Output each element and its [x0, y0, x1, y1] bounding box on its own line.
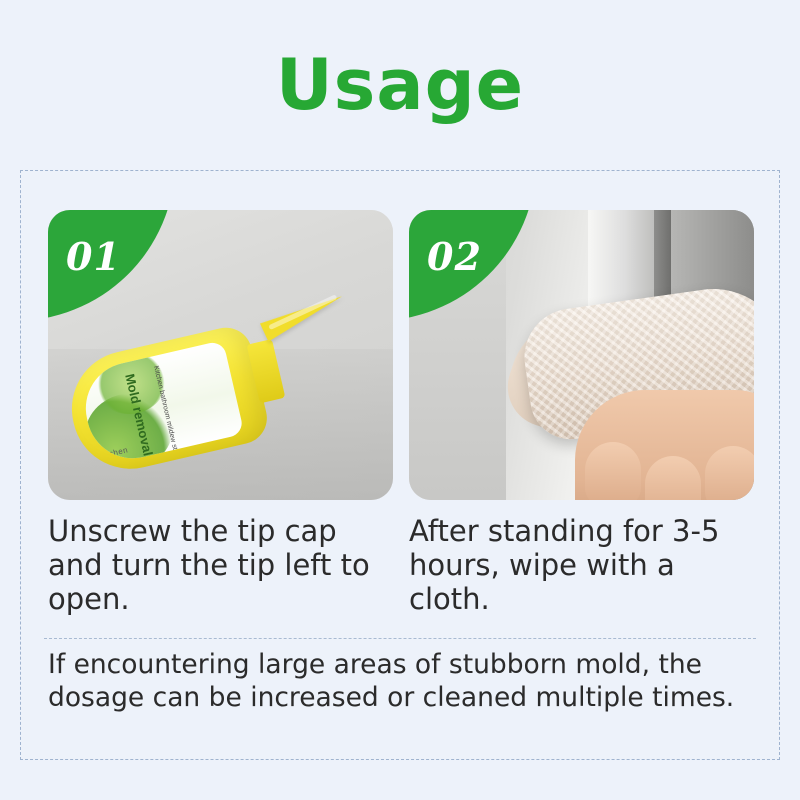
steps-container: Mold removal gel Kitchen bathroom mildew… — [48, 210, 754, 616]
footnote-divider — [44, 638, 756, 639]
page-title: Usage — [0, 44, 800, 126]
step-card-01: Mold removal gel Kitchen bathroom mildew… — [48, 210, 393, 616]
step-02-photo: 02 — [409, 210, 754, 500]
finger-1 — [585, 442, 641, 500]
hand — [575, 390, 754, 500]
usage-infographic: Usage Mold removal gel Kitchen bathroom … — [0, 0, 800, 800]
finger-3 — [705, 446, 754, 500]
step-01-photo: Mold removal gel Kitchen bathroom mildew… — [48, 210, 393, 500]
finger-2 — [645, 456, 701, 500]
step-01-caption: Unscrew the tip cap and turn the tip lef… — [48, 514, 393, 616]
step-card-02: 02 After standing for 3-5 hours, wipe wi… — [409, 210, 754, 616]
wall-left — [409, 210, 506, 500]
footnote-text: If encountering large areas of stubborn … — [48, 648, 764, 714]
step-02-caption: After standing for 3-5 hours, wipe with … — [409, 514, 754, 616]
